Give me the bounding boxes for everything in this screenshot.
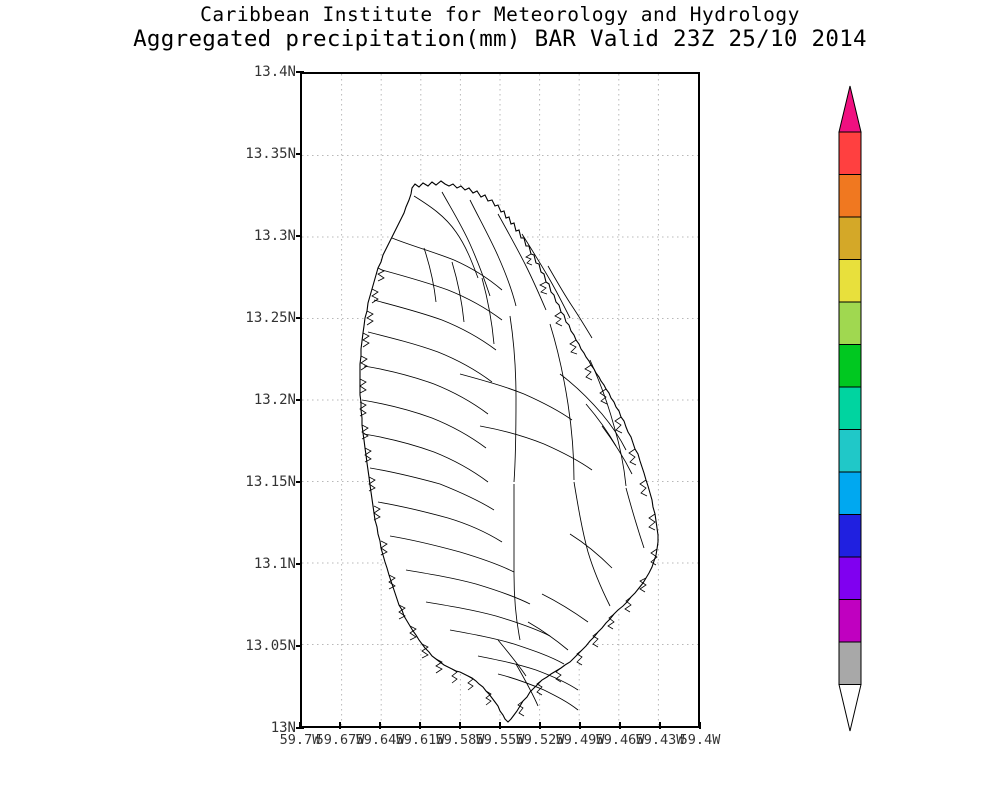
y-tick-label: 13.15N: [245, 474, 296, 490]
y-tick-label: 13.4N: [254, 64, 296, 80]
x-tick-mark: [299, 722, 301, 729]
y-axis-labels: 13.4N 13.35N 13.3N 13.25N 13.2N 13.15N 1…: [230, 72, 296, 728]
x-tick-mark: [379, 722, 381, 729]
colorbar-band: [839, 472, 861, 515]
x-tick-label: 59.43W: [636, 732, 685, 748]
x-axis-labels: 59.7W 59.67W 59.64W 59.61W 59.58W 59.55W…: [260, 730, 740, 752]
precipitation-map-page: Caribbean Institute for Meteorology and …: [0, 0, 1000, 800]
map-plot-area[interactable]: [300, 72, 700, 728]
colorbar-band: [839, 260, 861, 303]
colorbar-under-arrow: [839, 685, 861, 732]
colorbar-band: [839, 600, 861, 643]
x-tick-mark: [699, 722, 701, 729]
colorbar-canvas: [838, 86, 862, 731]
colorbar-band: [839, 345, 861, 388]
x-tick-mark: [619, 722, 621, 729]
x-tick-mark: [659, 722, 661, 729]
x-tick-mark: [459, 722, 461, 729]
x-tick-mark: [499, 722, 501, 729]
y-tick-label: 13.3N: [254, 228, 296, 244]
x-tick-label: 59.7W: [280, 732, 321, 748]
colorbar-band: [839, 132, 861, 175]
colorbar-band: [839, 175, 861, 218]
colorbar-band: [839, 302, 861, 345]
x-tick-label: 59.4W: [680, 732, 721, 748]
colorbar-band: [839, 557, 861, 600]
colorbar-band: [839, 430, 861, 473]
colorbar-over-arrow: [839, 86, 861, 132]
institute-title: Caribbean Institute for Meteorology and …: [0, 4, 1000, 26]
x-tick-mark: [579, 722, 581, 729]
y-tick-label: 13.1N: [254, 556, 296, 572]
page-title: Caribbean Institute for Meteorology and …: [0, 4, 1000, 52]
x-tick-mark: [339, 722, 341, 729]
colorbar-bands: [839, 132, 861, 685]
colorbar-band: [839, 217, 861, 260]
x-tick-mark: [419, 722, 421, 729]
y-tick-label: 13.2N: [254, 392, 296, 408]
colorbar[interactable]: 250 220 180 140 110 80 50 30 25 20 15 10…: [839, 86, 861, 731]
map-canvas: [302, 74, 698, 726]
barbados-coastline: [360, 181, 658, 722]
y-tick-label: 13.25N: [245, 310, 296, 326]
colorbar-band: [839, 515, 861, 558]
colorbar-band: [839, 387, 861, 430]
y-tick-label: 13.05N: [245, 638, 296, 654]
x-tick-mark: [539, 722, 541, 729]
colorbar-band: [839, 642, 861, 685]
map-subtitle: Aggregated precipitation(mm) BAR Valid 2…: [0, 26, 1000, 52]
y-tick-label: 13.35N: [245, 146, 296, 162]
